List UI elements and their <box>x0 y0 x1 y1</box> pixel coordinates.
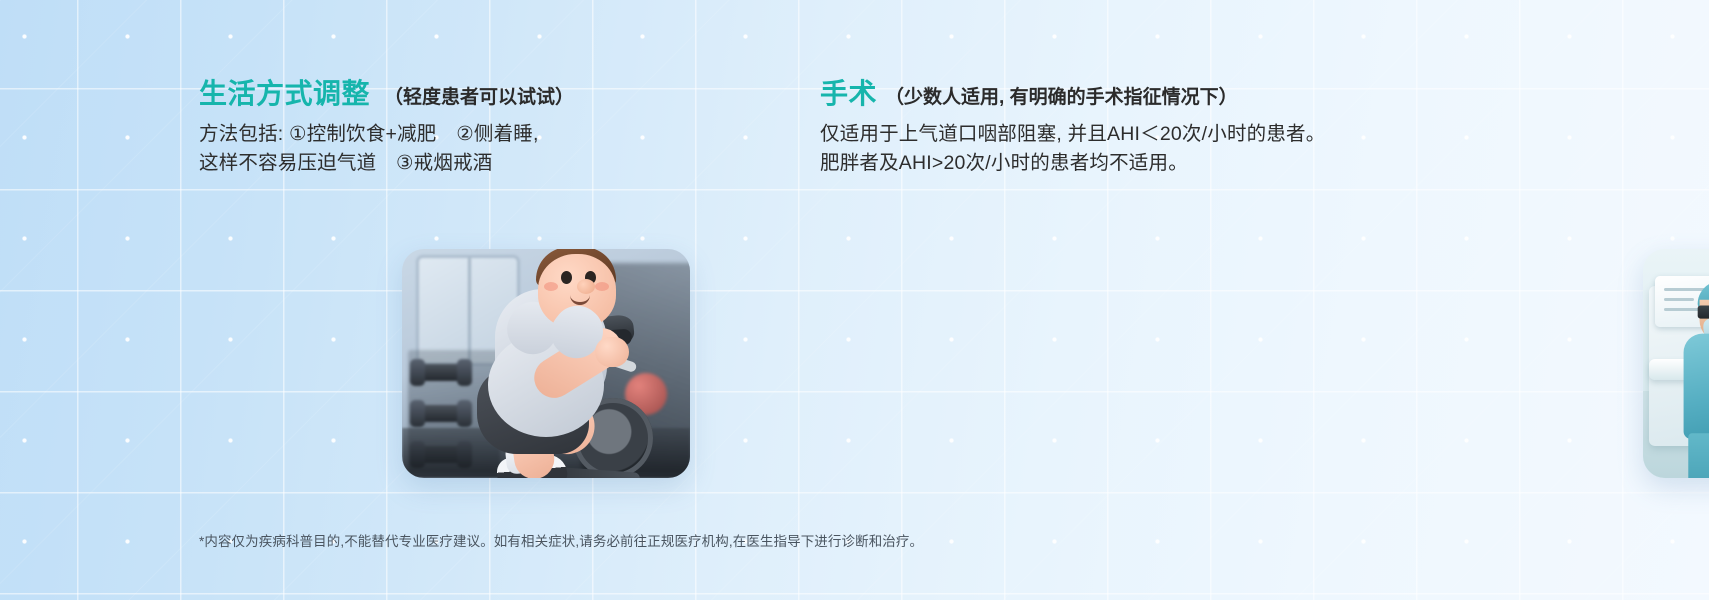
disclaimer-text: *内容仅为疾病科普目的,不能替代专业医疗建议。如有相关症状,请务必前往正规医疗机… <box>199 530 923 550</box>
cyclist-figure <box>460 254 639 474</box>
lifestyle-heading-subtitle: （轻度患者可以试试） <box>384 88 574 107</box>
slide-canvas: 生活方式调整 （轻度患者可以试试） 方法包括: ①控制饮食+减肥 ②侧着睡, 这… <box>0 0 1709 600</box>
lifestyle-body-line-1: 方法包括: ①控制饮食+减肥 ②侧着睡, <box>199 120 539 149</box>
exercise-bike-illustration: KOIH <box>402 249 690 478</box>
surgery-body-line-2: 肥胖者及AHI>20次/小时的患者均不适用。 <box>820 149 1325 178</box>
surgery-heading-title: 手术 <box>820 80 877 108</box>
surgery-image-card <box>1643 249 1709 478</box>
lifestyle-body-line-2: 这样不容易压迫气道 ③戒烟戒酒 <box>199 149 539 178</box>
operating-room-illustration <box>1643 249 1709 478</box>
lifestyle-heading-title: 生活方式调整 <box>199 80 370 108</box>
surgery-body: 仅适用于上气道口咽部阻塞, 并且AHI＜20次/小时的患者。 肥胖者及AHI>2… <box>820 120 1325 178</box>
lifestyle-heading: 生活方式调整 （轻度患者可以试试） <box>199 80 574 108</box>
surgery-body-line-1: 仅适用于上气道口咽部阻塞, 并且AHI＜20次/小时的患者。 <box>820 120 1325 149</box>
surgery-heading-subtitle: （少数人适用, 有明确的手术指征情况下） <box>885 88 1238 107</box>
lifestyle-image-card: KOIH <box>402 249 690 478</box>
surgery-heading: 手术 （少数人适用, 有明确的手术指征情况下） <box>820 80 1238 108</box>
lifestyle-body: 方法包括: ①控制饮食+减肥 ②侧着睡, 这样不容易压迫气道 ③戒烟戒酒 <box>199 120 539 178</box>
